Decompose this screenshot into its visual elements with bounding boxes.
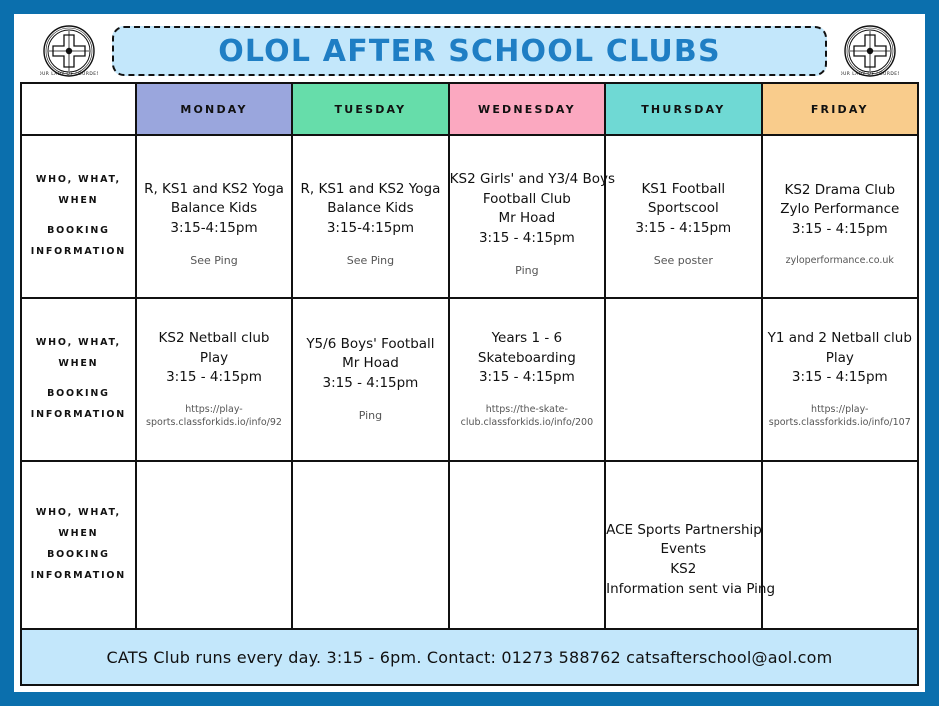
booking-note: Ping (293, 409, 447, 424)
club-detail-line: KS2 Drama Club (763, 181, 917, 201)
poster-title-banner: OLOL AFTER SCHOOL CLUBS (112, 26, 827, 76)
club-detail-line: Skateboarding (450, 349, 604, 369)
club-detail-line: Y1 and 2 Netball club (763, 329, 917, 349)
club-details: Y1 and 2 Netball clubPlay3:15 - 4:15pm (763, 329, 917, 388)
club-detail-line: 3:15-4:15pm (293, 219, 447, 239)
club-detail-line: R, KS1 and KS2 Yoga (137, 180, 291, 200)
club-detail-line: Balance Kids (293, 199, 447, 219)
row-label-who-what-when: WHO, WHAT,WHENBOOKINGINFORMATION (21, 135, 136, 298)
cats-club-footer: CATS Club runs every day. 3:15 - 6pm. Co… (20, 628, 919, 686)
club-detail-line: Mr Hoad (293, 354, 447, 374)
poster-root: OUR LADY OF LOURDES OLOL AFTER SCHOOL CL… (0, 0, 939, 706)
club-cell: KS2 Drama ClubZylo Performance3:15 - 4:1… (762, 135, 918, 298)
club-details: KS2 Netball clubPlay3:15 - 4:15pm (137, 329, 291, 388)
club-cell: R, KS1 and KS2 YogaBalance Kids3:15-4:15… (136, 135, 292, 298)
club-cell: Y1 and 2 Netball clubPlay3:15 - 4:15pmht… (762, 298, 918, 461)
club-detail-line: 3:15 - 4:15pm (763, 368, 917, 388)
club-cell: ACE Sports PartnershipEventsKS2Informati… (605, 461, 761, 629)
club-cell: KS1 FootballSportscool3:15 - 4:15pmSee p… (605, 135, 761, 298)
club-detail-line: KS2 Girls' and Y3/4 Boys (450, 170, 604, 190)
row-label-who-what-when: WHO, WHAT,WHENBOOKINGINFORMATION (21, 298, 136, 461)
row-label-line: INFORMATION (22, 405, 135, 426)
booking-note: See Ping (293, 254, 447, 269)
club-detail-line: Events (606, 540, 760, 560)
club-cell (292, 461, 448, 629)
table-header-row: MONDAY TUESDAY WEDNESDAY THURSDAY FRIDAY (21, 83, 918, 135)
day-header-monday: MONDAY (136, 83, 292, 135)
day-header-wednesday: WEDNESDAY (449, 83, 605, 135)
row-label-line: WHO, WHAT, (22, 503, 135, 524)
club-detail-line: Balance Kids (137, 199, 291, 219)
row-label-line: BOOKING (22, 221, 135, 242)
club-cell: Years 1 - 6Skateboarding3:15 - 4:15pmhtt… (449, 298, 605, 461)
club-detail-line: KS2 (606, 560, 760, 580)
row-label-line: INFORMATION (22, 566, 135, 587)
table-body: WHO, WHAT,WHENBOOKINGINFORMATIONR, KS1 a… (21, 135, 918, 629)
club-detail-line: Football Club (450, 190, 604, 210)
row-label-line: WHEN (22, 354, 135, 375)
booking-note: See poster (606, 254, 760, 269)
row-label-line: WHEN (22, 524, 135, 545)
row-label-line: BOOKING (22, 545, 135, 566)
club-details: ACE Sports PartnershipEventsKS2Informati… (606, 521, 760, 599)
club-detail-line: Years 1 - 6 (450, 329, 604, 349)
table-corner-cell (21, 83, 136, 135)
club-detail-line: 3:15 - 4:15pm (137, 368, 291, 388)
school-crest-right-icon: OUR LADY OF LOURDES (841, 22, 899, 80)
row-label-line: INFORMATION (22, 242, 135, 263)
club-detail-line: Information sent via Ping (606, 580, 760, 600)
crest-motto-text: OUR LADY OF LOURDES (841, 71, 899, 77)
club-details: KS2 Drama ClubZylo Performance3:15 - 4:1… (763, 181, 917, 240)
booking-note: See Ping (137, 254, 291, 269)
club-cell: R, KS1 and KS2 YogaBalance Kids3:15-4:15… (292, 135, 448, 298)
row-label-line: WHEN (22, 191, 135, 212)
club-details: R, KS1 and KS2 YogaBalance Kids3:15-4:15… (137, 180, 291, 239)
club-detail-line: 3:15 - 4:15pm (293, 374, 447, 394)
club-cell (762, 461, 918, 629)
clubs-timetable: MONDAY TUESDAY WEDNESDAY THURSDAY FRIDAY… (20, 82, 919, 630)
row-label-line: BOOKING (22, 384, 135, 405)
club-detail-line: Y5/6 Boys' Football (293, 335, 447, 355)
club-cell: Y5/6 Boys' FootballMr Hoad3:15 - 4:15pmP… (292, 298, 448, 461)
table-row: WHO, WHAT,WHENBOOKINGINFORMATIONR, KS1 a… (21, 135, 918, 298)
club-details: Y5/6 Boys' FootballMr Hoad3:15 - 4:15pm (293, 335, 447, 394)
crest-motto-text: OUR LADY OF LOURDES (40, 71, 98, 77)
booking-link[interactable]: https://the-skate-club.classforkids.io/i… (450, 404, 604, 430)
footer-contact-text: CATS Club runs every day. 3:15 - 6pm. Co… (107, 648, 833, 667)
booking-link[interactable]: zyloperformance.co.uk (763, 255, 917, 268)
school-crest-left-icon: OUR LADY OF LOURDES (40, 22, 98, 80)
club-detail-line: Zylo Performance (763, 200, 917, 220)
club-detail-line: R, KS1 and KS2 Yoga (293, 180, 447, 200)
table-row: WHO, WHAT,WHENBOOKINGINFORMATIONACE Spor… (21, 461, 918, 629)
day-header-friday: FRIDAY (762, 83, 918, 135)
club-detail-line: 3:15 - 4:15pm (763, 220, 917, 240)
club-detail-line: KS2 Netball club (137, 329, 291, 349)
club-detail-line: 3:15 - 4:15pm (450, 368, 604, 388)
club-details: KS2 Girls' and Y3/4 BoysFootball ClubMr … (450, 170, 604, 248)
club-cell (605, 298, 761, 461)
club-detail-line: 3:15 - 4:15pm (450, 229, 604, 249)
club-detail-line: Sportscool (606, 199, 760, 219)
club-details: KS1 FootballSportscool3:15 - 4:15pm (606, 180, 760, 239)
club-details: Years 1 - 6Skateboarding3:15 - 4:15pm (450, 329, 604, 388)
page-title: OLOL AFTER SCHOOL CLUBS (218, 34, 721, 69)
booking-link[interactable]: https://play-sports.classforkids.io/info… (763, 404, 917, 430)
club-cell: KS2 Girls' and Y3/4 BoysFootball ClubMr … (449, 135, 605, 298)
booking-link[interactable]: https://play-sports.classforkids.io/info… (137, 404, 291, 430)
club-detail-line: 3:15-4:15pm (137, 219, 291, 239)
row-label-line: WHO, WHAT, (22, 333, 135, 354)
row-label-who-what-when: WHO, WHAT,WHENBOOKINGINFORMATION (21, 461, 136, 629)
poster-header: OUR LADY OF LOURDES OLOL AFTER SCHOOL CL… (20, 20, 919, 82)
booking-note: Ping (450, 264, 604, 279)
poster-inner-frame: OUR LADY OF LOURDES OLOL AFTER SCHOOL CL… (20, 20, 919, 686)
club-details: R, KS1 and KS2 YogaBalance Kids3:15-4:15… (293, 180, 447, 239)
club-detail-line: Play (137, 349, 291, 369)
club-detail-line: ACE Sports Partnership (606, 521, 760, 541)
day-header-tuesday: TUESDAY (292, 83, 448, 135)
club-cell: KS2 Netball clubPlay3:15 - 4:15pmhttps:/… (136, 298, 292, 461)
club-detail-line: KS1 Football (606, 180, 760, 200)
club-detail-line: Mr Hoad (450, 209, 604, 229)
club-detail-line: 3:15 - 4:15pm (606, 219, 760, 239)
club-cell (449, 461, 605, 629)
row-label-line: WHO, WHAT, (22, 170, 135, 191)
club-detail-line: Play (763, 349, 917, 369)
table-row: WHO, WHAT,WHENBOOKINGINFORMATIONKS2 Netb… (21, 298, 918, 461)
club-cell (136, 461, 292, 629)
day-header-thursday: THURSDAY (605, 83, 761, 135)
